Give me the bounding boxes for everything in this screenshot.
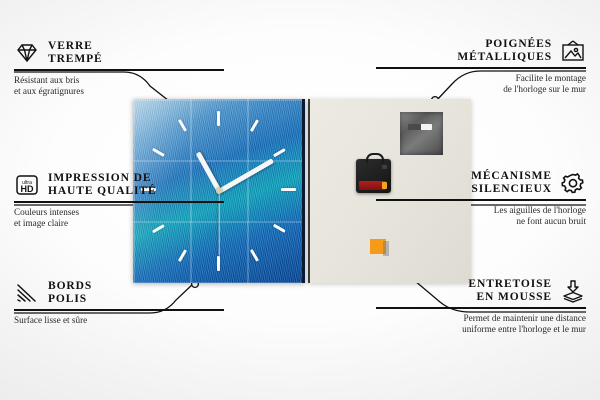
callout-description: Surface lisse et sûre (14, 315, 224, 326)
callout-header: VERRE TREMPÉ (14, 40, 224, 66)
callout-impression-haute-qualite: ultra HD IMPRESSION DE HAUTE QUALITÉ Cou… (14, 172, 224, 229)
callout-poignees-metalliques: POIGNÉES MÉTALLIQUES Facilite le montage… (376, 38, 586, 95)
callout-rule (376, 67, 586, 69)
callout-rule (376, 307, 586, 309)
svg-text:HD: HD (21, 184, 34, 194)
callout-title: POIGNÉES MÉTALLIQUES (457, 38, 552, 64)
glass-edge (302, 99, 305, 283)
polished-edges-icon (14, 281, 40, 305)
hanger-slot (408, 124, 432, 130)
foam-spacer-shadow (383, 241, 389, 256)
gear-icon (560, 171, 586, 195)
callout-header: ENTRETOISE EN MOUSSE (376, 278, 586, 304)
callout-title: BORDS POLIS (48, 280, 92, 306)
callout-description: Les aiguilles de l'horloge ne font aucun… (376, 205, 586, 227)
callout-title: MÉCANISME SILENCIEUX (471, 170, 552, 196)
callout-rule (14, 69, 224, 71)
mechanism-dial (382, 165, 387, 169)
back-panel-edge (308, 99, 310, 283)
diamond-icon (14, 41, 40, 65)
ultra-hd-icon: ultra HD (14, 173, 40, 197)
callout-rule (14, 309, 224, 311)
callout-bords-polis: BORDS POLIS Surface lisse et sûre (14, 280, 224, 326)
press-down-layers-icon (560, 279, 586, 303)
metal-hanger-plate (400, 112, 443, 155)
mechanism-hanging-loop (366, 153, 384, 163)
callout-description: Facilite le montage de l'horloge sur le … (376, 73, 586, 95)
hanging-frame-icon (560, 39, 586, 63)
callout-title: VERRE TREMPÉ (48, 40, 103, 66)
callout-header: MÉCANISME SILENCIEUX (376, 170, 586, 196)
callout-verre-trempe: VERRE TREMPÉ Résistant aux bris et aux é… (14, 40, 224, 97)
callout-header: POIGNÉES MÉTALLIQUES (376, 38, 586, 64)
callout-description: Couleurs intenses et image claire (14, 207, 224, 229)
callout-title: ENTRETOISE EN MOUSSE (468, 278, 552, 304)
callout-title: IMPRESSION DE HAUTE QUALITÉ (48, 172, 157, 198)
callout-rule (376, 199, 586, 201)
callout-mecanisme-silencieux: MÉCANISME SILENCIEUX Les aiguilles de l'… (376, 170, 586, 227)
callout-description: Permet de maintenir une distance uniform… (376, 313, 586, 335)
callout-header: BORDS POLIS (14, 280, 224, 306)
callout-description: Résistant aux bris et aux égratignures (14, 75, 224, 97)
callout-entretoise-en-mousse: ENTRETOISE EN MOUSSE Permet de maintenir… (376, 278, 586, 335)
foam-spacer (370, 239, 386, 254)
callout-header: ultra HD IMPRESSION DE HAUTE QUALITÉ (14, 172, 224, 198)
infographic-canvas: VERRE TREMPÉ Résistant aux bris et aux é… (0, 0, 600, 400)
callout-rule (14, 201, 224, 203)
